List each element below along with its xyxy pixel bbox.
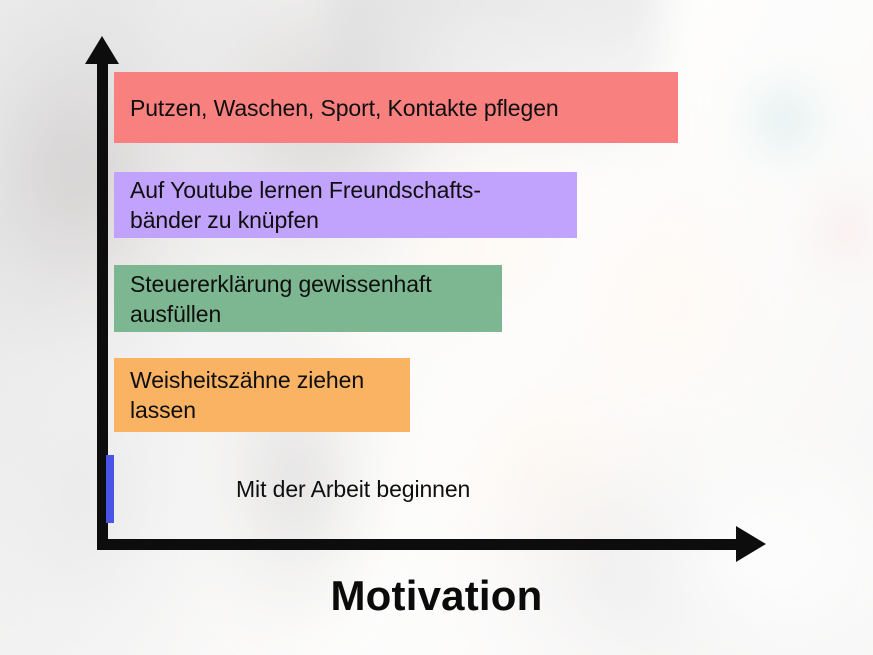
x-axis-title: Motivation — [0, 572, 873, 620]
bar-putzen-waschen-sport[interactable]: Putzen, Waschen, Sport, Kontakte pflegen — [114, 72, 678, 143]
background-blob-hand-lower — [400, 330, 700, 610]
bar-label: Putzen, Waschen, Sport, Kontakte pflegen — [114, 93, 559, 123]
bar-youtube-freundschaftsbaender[interactable]: Auf Youtube lernen Freundschafts- bänder… — [114, 172, 577, 238]
bar-label: Auf Youtube lernen Freundschafts- bänder… — [114, 175, 481, 235]
background-blob-hand-right — [540, 150, 800, 450]
background-blob-teal-object — [725, 55, 845, 185]
bar-weisheitszaehne[interactable]: Weisheitszähne ziehen lassen — [114, 358, 410, 432]
x-axis-line — [97, 539, 743, 550]
y-axis-arrow-icon — [85, 36, 119, 64]
bar-label: Weisheitszähne ziehen lassen — [114, 365, 364, 425]
background-blob-pink-object — [790, 160, 873, 300]
bar-mit-der-arbeit-beginnen[interactable]: Mit der Arbeit beginnen — [106, 455, 114, 523]
chart-canvas: Putzen, Waschen, Sport, Kontakte pflegen… — [0, 0, 873, 655]
bar-steuererklaerung[interactable]: Steuererklärung gewissenhaft ausfüllen — [114, 265, 502, 332]
background-blob-person — [150, 0, 480, 300]
x-axis-arrow-icon — [736, 526, 766, 562]
bar-label: Steuererklärung gewissenhaft ausfüllen — [114, 269, 432, 329]
bar-label: Mit der Arbeit beginnen — [220, 474, 470, 504]
